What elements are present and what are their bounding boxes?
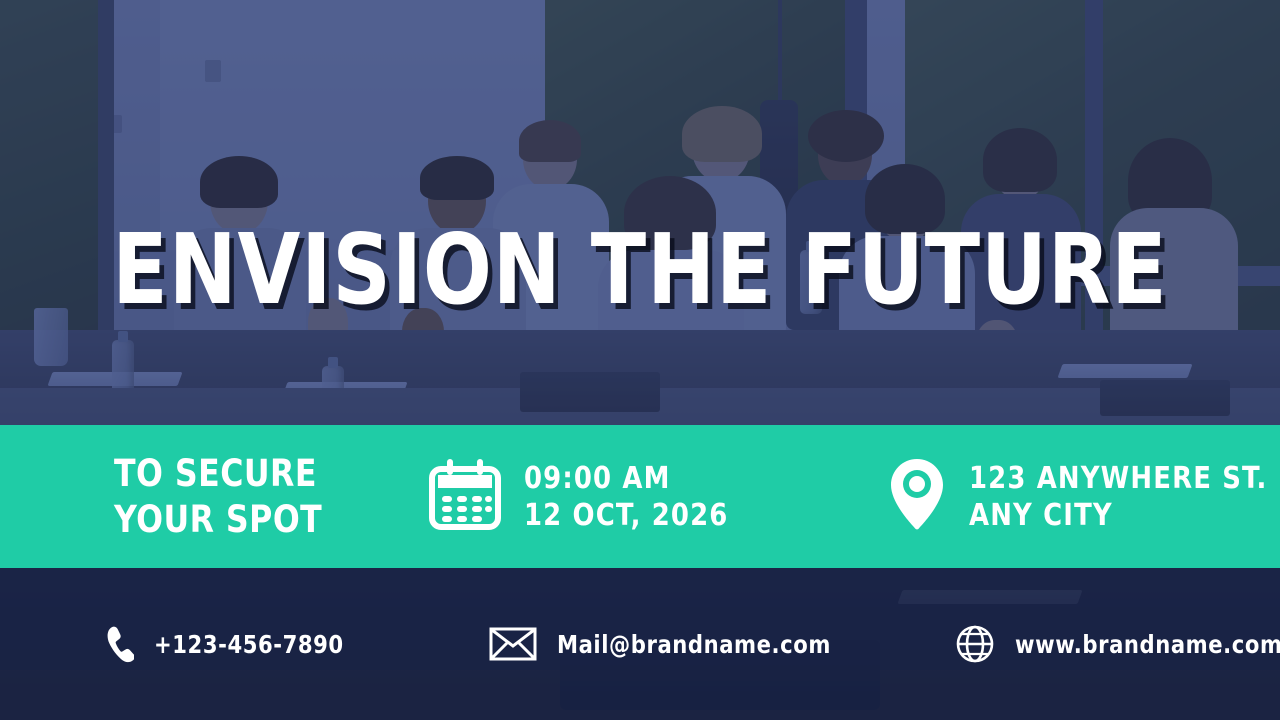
globe-icon [955, 624, 995, 664]
event-datetime: 09:00 AM 12 OCT, 2026 [428, 457, 737, 536]
cta-text: TO SECURE YOUR SPOT [114, 451, 363, 543]
event-time: 09:00 AM [524, 460, 728, 497]
phone-number: +123-456-7890 [154, 630, 344, 659]
page-title: ENVISION THE FUTURE [45, 222, 1235, 318]
email-address: Mail@brandname.com [557, 630, 831, 659]
phone-icon [100, 625, 134, 663]
envelope-icon [489, 627, 537, 661]
map-pin-icon [887, 456, 947, 537]
contact-bar: +123-456-7890 Mail@brandname.com [0, 568, 1280, 720]
event-date: 12 OCT, 2026 [524, 497, 728, 534]
contact-website[interactable]: www.brandname.com [955, 624, 1280, 664]
event-location: 123 ANYWHERE ST. ANY CITY [887, 456, 1280, 537]
cta-line-1: TO SECURE [114, 451, 363, 497]
address-line-2: ANY CITY [969, 497, 1268, 534]
calendar-icon [428, 457, 502, 536]
website-url: www.brandname.com [1015, 630, 1280, 659]
event-poster: ENVISION THE FUTURE TO SECURE YOUR SPOT [0, 0, 1280, 720]
address-text: 123 ANYWHERE ST. ANY CITY [969, 460, 1268, 534]
event-details-band: TO SECURE YOUR SPOT [0, 425, 1280, 568]
address-line-1: 123 ANYWHERE ST. [969, 460, 1268, 497]
cta-line-2: YOUR SPOT [114, 497, 363, 543]
contact-phone[interactable]: +123-456-7890 [100, 625, 356, 663]
datetime-text: 09:00 AM 12 OCT, 2026 [524, 460, 728, 534]
contact-email[interactable]: Mail@brandname.com [489, 627, 848, 661]
